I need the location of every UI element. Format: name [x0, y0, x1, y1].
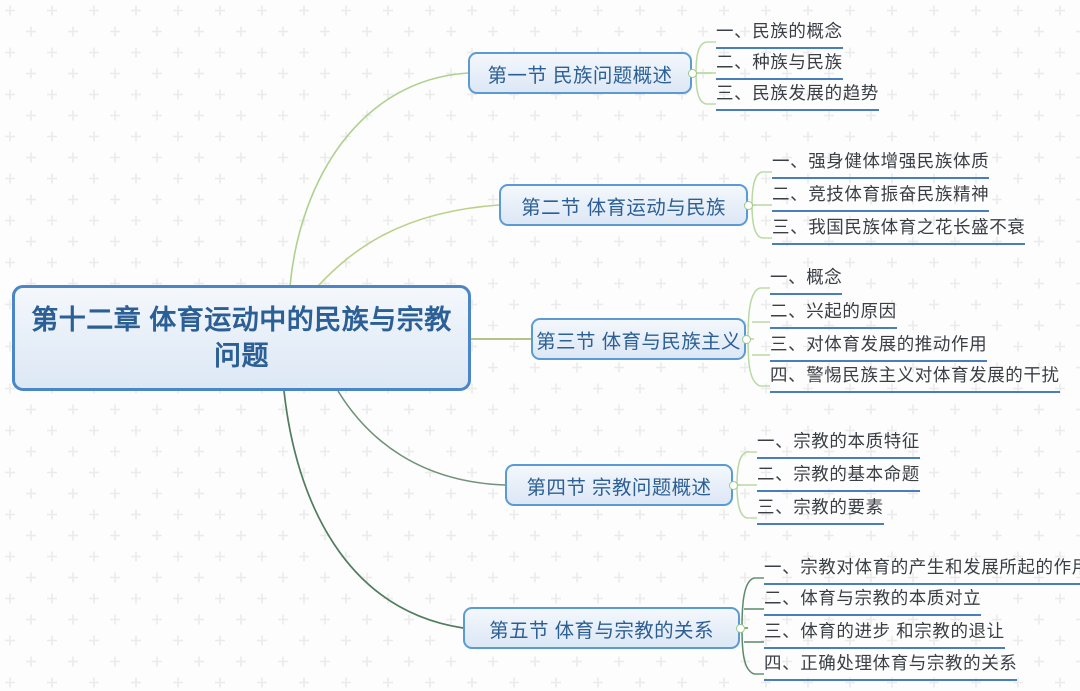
leaf-node[interactable]: 二、种族与民族 [716, 51, 843, 80]
leaf-node[interactable]: 一、强身健体增强民族体质 [772, 150, 989, 179]
root-node[interactable]: 第十二章 体育运动中的民族与宗教问题 [12, 285, 471, 391]
leaf-node[interactable]: 三、体育的进步 和宗教的退让 [764, 620, 1005, 649]
leaf-node[interactable]: 一、宗教对体育的产生和发展所起的作用 [764, 556, 1080, 585]
collapse-toggle-section-2[interactable] [744, 201, 753, 210]
collapse-toggle-section-3[interactable] [742, 335, 751, 344]
leaf-node[interactable]: 三、民族发展的趋势 [716, 82, 879, 111]
leaf-node[interactable]: 二、竞技体育振奋民族精神 [772, 183, 989, 212]
leaf-node[interactable]: 一、概念 [770, 266, 842, 295]
leaf-node[interactable]: 三、宗教的要素 [757, 496, 884, 525]
collapse-toggle-section-1[interactable] [688, 69, 697, 78]
branch-node-label: 第四节 宗教问题概述 [527, 471, 712, 500]
leaf-node[interactable]: 二、体育与宗教的本质对立 [764, 587, 981, 616]
leaf-node[interactable]: 四、警惕民族主义对体育发展的干扰 [770, 364, 1060, 393]
root-node-label: 第十二章 体育运动中的民族与宗教问题 [29, 302, 454, 375]
connector-root-to-section-2 [318, 205, 499, 286]
branch-node-label: 第二节 体育运动与民族 [521, 191, 726, 220]
mindmap-canvas: 第十二章 体育运动中的民族与宗教问题 第一节 民族问题概述 一、民族的概念 二、… [0, 0, 1080, 691]
branch-node-label: 第五节 体育与宗教的关系 [489, 614, 714, 643]
connector-root-to-section-4 [338, 391, 505, 485]
branch-node-section-5[interactable]: 第五节 体育与宗教的关系 [463, 607, 740, 649]
leaf-node[interactable]: 四、正确处理体育与宗教的关系 [764, 652, 1017, 681]
branch-node-section-4[interactable]: 第四节 宗教问题概述 [505, 464, 733, 506]
leaf-node[interactable]: 一、民族的概念 [716, 20, 843, 49]
branch-node-label: 第三节 体育与民族主义 [536, 325, 741, 354]
branch-node-section-1[interactable]: 第一节 民族问题概述 [468, 52, 692, 94]
connector-root-to-section-5 [284, 391, 463, 628]
collapse-toggle-section-5[interactable] [736, 624, 745, 633]
leaf-node[interactable]: 三、我国民族体育之花长盛不衰 [772, 216, 1025, 245]
branch-node-section-3[interactable]: 第三节 体育与民族主义 [531, 318, 746, 360]
leaf-node[interactable]: 二、兴起的原因 [770, 300, 897, 329]
leaf-node[interactable]: 二、宗教的基本命题 [757, 463, 920, 492]
connector-root-to-section-1 [290, 73, 468, 286]
leaf-node[interactable]: 三、对体育发展的推动作用 [770, 333, 987, 362]
branch-node-label: 第一节 民族问题概述 [488, 59, 673, 88]
collapse-toggle-section-4[interactable] [729, 481, 738, 490]
branch-node-section-2[interactable]: 第二节 体育运动与民族 [499, 184, 748, 226]
leaf-node[interactable]: 一、宗教的本质特征 [757, 430, 920, 459]
